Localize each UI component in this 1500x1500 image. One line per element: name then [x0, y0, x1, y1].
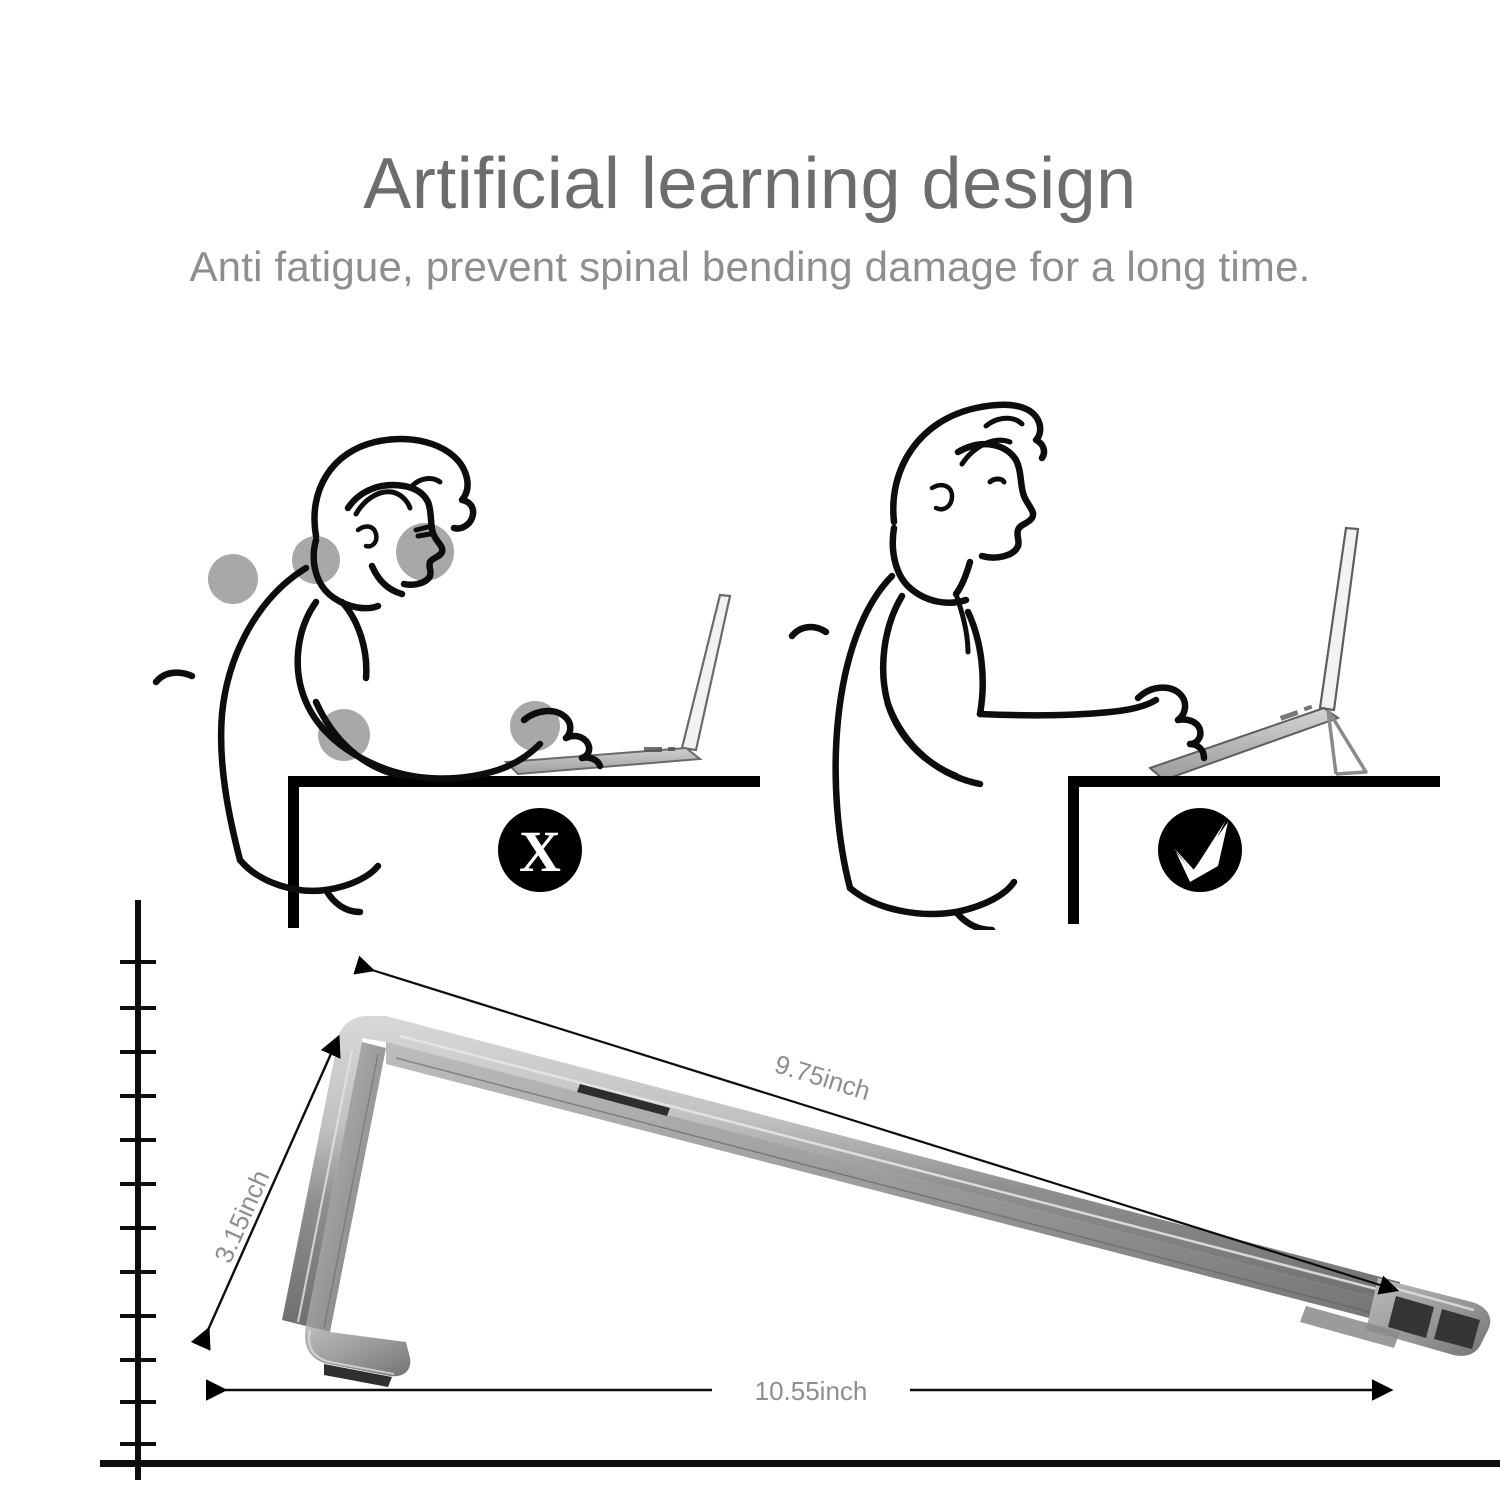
laptop-elevated — [1150, 528, 1366, 780]
dimension-incline: 9.75inch — [372, 970, 1396, 1290]
infographic-canvas: Artificial learning design Anti fatigue,… — [0, 0, 1500, 1500]
laptop-stand-product — [282, 1016, 1490, 1387]
page-title: Artificial learning design — [0, 0, 1500, 220]
dimension-incline-label: 9.75inch — [771, 1049, 874, 1106]
laptop-stand — [1328, 710, 1366, 774]
dimension-base-label: 10.55inch — [755, 1376, 868, 1406]
pain-point-group — [208, 523, 560, 761]
scene-bad-posture: X — [120, 390, 760, 930]
scene-good-posture — [780, 380, 1440, 930]
page-subtitle: Anti fatigue, prevent spinal bending dam… — [0, 220, 1500, 288]
badge-check — [1158, 808, 1242, 892]
product-dimension-diagram: 3.15inch 9.75inch 10.55inch — [100, 890, 1500, 1490]
badge-cross: X — [498, 808, 582, 892]
dimension-height-label: 3.15inch — [208, 1165, 275, 1267]
person-good-posture — [792, 405, 1204, 930]
dimension-base: 10.55inch — [224, 1376, 1390, 1406]
baseline-axis — [100, 1460, 1500, 1467]
badge-cross-label: X — [519, 819, 561, 884]
vertical-ruler — [120, 900, 156, 1480]
pain-point-shoulder-icon — [208, 554, 258, 604]
header: Artificial learning design Anti fatigue,… — [0, 0, 1500, 288]
